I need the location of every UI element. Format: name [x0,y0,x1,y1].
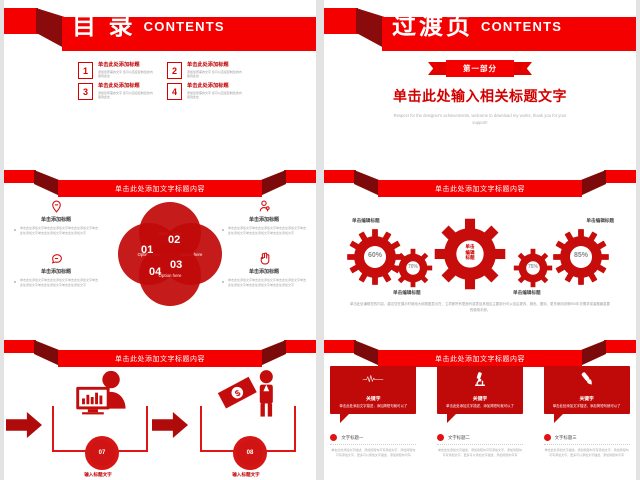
item-title: 单击此处添加标题 [187,62,242,69]
item-desc: 添加您所需的文字 您可以直接复制您的内容到此处 [98,91,153,100]
slide-process[interactable]: 单击此处添加文字标题内容 [0,330,320,480]
callout-bubble: 关键字 单击此处添加文字描述，添加简短句就可以了 [544,366,630,414]
item-desc: 添加您所需的文字 您可以直接复制您的内容到此处 [187,91,242,100]
banner-label: 单击此处添加文字标题内容 [435,354,525,364]
ribbon-fold-left [34,170,60,196]
header-title-cn: 过渡页 [392,15,473,39]
header-text: 过渡页 CONTENTS [392,10,630,43]
ribbon-fold-right [260,170,286,196]
header-text: 目 录 CONTENTS [72,10,310,43]
item-title: 单击此处添加标题 [187,83,242,90]
gear-value-5: 85% [552,252,610,259]
block-desc: 单击此处添加文字单击此处添加文字单击此处添加文字单击此处添加文字单击此处添加文字… [222,226,306,236]
ribbon-wing-left [324,340,356,353]
slide-banner: 单击此处添加文字标题内容 [324,340,636,366]
slide-banner: 单击此处添加文字标题内容 [4,170,316,196]
block-title: 单击添加标题 [14,216,98,223]
banner-left-tab [324,8,358,34]
banner-left-tab [4,8,38,34]
callout-footer: 文字标题二 单击此处添加文字描述，添加简短句可写添加文字，添加简短句可写添加文字… [437,434,523,458]
slide-callouts[interactable]: 单击此处添加文字标题内容 关键字 单击此处添加文字描述，添加简短句就可以了 [320,330,640,480]
list-item[interactable]: 4 单击此处添加标题 添加您所需的文字 您可以直接复制您的内容到此处 [167,83,242,100]
item-number: 3 [78,83,93,100]
section-title: 单击此处输入相关标题文字 [320,86,640,106]
gear-value-4: 75% [513,264,553,270]
ribbon-tail-left [428,62,448,75]
slide-contents[interactable]: 目 录 CONTENTS 1 单击此处添加标题 添加您所需的文字 您可以直接复制… [0,0,320,160]
block-desc: 单击此处添加文字单击此处添加文字单击此处添加文字单击此处添加文字单击此处添加文字… [14,226,98,236]
list-item[interactable]: 2 单击此处添加标题 添加您所需的文字 您可以直接复制您的内容到此处 [167,62,242,79]
gear-label-4: 单击编辑标题 [513,290,541,296]
ribbon-wing-left [324,170,356,183]
petal-diagram: Option here Option here Option here Opti… [118,202,222,306]
info-block[interactable]: 单击添加标题 单击此处添加文字单击此处添加文字单击此处添加文字单击此处添加文字单… [222,252,306,288]
person-money-icon: $ [200,368,292,426]
contents-list: 1 单击此处添加标题 添加您所需的文字 您可以直接复制您的内容到此处 2 单击此… [0,62,320,100]
chat-bubble-icon [14,252,98,265]
ribbon-fold-left [354,340,380,366]
divider [330,444,416,445]
step-title: 输入标题文字 [186,472,306,478]
petal-number-01: 01 [141,244,153,256]
gear-value-2: 70% [393,264,433,270]
callout-body: 单击此处添加文字描述，添加简短句就可以了 [339,404,407,409]
ribbon-wing-right [284,170,316,183]
callout-card[interactable]: 关键字 单击此处添加文字描述，添加简短句就可以了 文字标题二 单击此处添加文字描… [437,366,523,458]
callout-keyword: 关键字 [579,395,593,402]
footer-title: 文字标题三 [555,435,577,441]
ribbon-fold-left [354,170,380,196]
pulse-icon [362,371,384,392]
block-title: 单击添加标题 [222,216,306,223]
slide-deck: 目 录 CONTENTS 1 单击此处添加标题 添加您所需的文字 您可以直接复制… [0,0,640,480]
gear-label-2: 单击编辑标题 [393,290,421,296]
item-title: 单击此处添加标题 [98,83,153,90]
item-desc: 添加您所需的文字 您可以直接复制您的内容到此处 [187,70,242,79]
item-desc: 添加您所需的文字 您可以直接复制您的内容到此处 [98,70,153,79]
slide-banner: 单击此处添加文字标题内容 [4,340,316,366]
block-desc: 单击此处添加文字单击此处添加文字单击此处添加文字单击此处添加文字单击此处添加文字… [14,278,98,288]
info-block[interactable]: 单击添加标题 单击此处添加文字单击此处添加文字单击此处添加文字单击此处添加文字单… [222,200,306,236]
ribbon-fold-right [260,340,286,366]
callout-card[interactable]: 关键字 单击此处添加文字描述，添加简短句就可以了 文字标题三 单击此处添加文字描… [544,366,630,458]
bullet-dot-icon [437,434,444,441]
item-number: 2 [167,62,182,79]
section-ribbon: 第一部分 [446,60,514,77]
gear-footer-text: 单击此处编辑您的内容，建议您在展示时使用大纲视图显示在，立项即所有里面列或表及其… [350,302,610,314]
slide-banner: 单击此处添加文字标题内容 [324,170,636,196]
petal-numbers: 01 02 03 04 [118,202,222,306]
step-label: 输入标题文字 单击此处可以编辑内容文字内容单击此处可以更改内容 [38,472,158,480]
gear-value-3: 单击 编辑 标题 [434,244,506,261]
ribbon-wing-left [4,170,36,183]
callout-keyword: 关键字 [473,395,487,402]
process-diagram: 07 输入标题文字 单击此处可以编辑内容文字内容单击此处可以更改内容 [0,364,320,480]
slide-gears[interactable]: 单击此处添加文字标题内容 单击编辑标题 [320,160,640,330]
ribbon-fold-right [580,170,606,196]
slide-petal-diagram[interactable]: 单击此处添加文字标题内容 Option here Option here Opt… [0,160,320,330]
gear-2[interactable]: 70% [393,248,433,288]
block-title: 单击添加标题 [14,268,98,275]
list-item[interactable]: 1 单击此处添加标题 添加您所需的文字 您可以直接复制您的内容到此处 [78,62,153,79]
gear-diagram: 单击编辑标题 [320,200,640,300]
footer-title: 文字标题二 [448,435,470,441]
microscope-icon [469,371,491,392]
footer-desc: 单击此处添加文字描述，添加简短句可写添加文字，添加简短句可写添加文字，更多可以添… [544,448,630,458]
item-number: 4 [167,83,182,100]
gear-label-1: 单击编辑标题 [352,218,380,224]
step-badge: 07 [85,436,119,470]
step-title: 输入标题文字 [38,472,158,478]
callout-columns: 关键字 单击此处添加文字描述，添加简短句就可以了 文字标题一 单击此处添加文字描… [320,366,640,458]
footer-desc: 单击此处添加文字描述，添加简短句可写添加文字，添加简短句可写添加文字，更多可以添… [437,448,523,458]
header-title-en: CONTENTS [481,19,562,34]
person-chart-icon [52,368,144,426]
section-subtitle: Respect for the designer's achievements,… [320,112,640,126]
footer-desc: 单击此处添加文字描述，添加简短句可写添加文字，添加简短句可写添加文字，更多可以添… [330,448,416,458]
ribbon-wing-right [604,340,636,353]
item-title: 单击此处添加标题 [98,62,153,69]
ribbon-fold-right [580,340,606,366]
arrow-icon [152,412,188,438]
callout-keyword: 关键字 [366,395,380,402]
slide-section-divider[interactable]: 过渡页 CONTENTS 第一部分 单击此处输入相关标题文字 Respect f… [320,0,640,160]
block-title: 单击添加标题 [222,268,306,275]
ribbon-label: 第一部分 [463,63,497,74]
callout-footer: 文字标题三 单击此处添加文字描述，添加简短句可写添加文字，添加简短句可写添加文字… [544,434,630,458]
petal-number-02: 02 [168,234,180,246]
pen-icon [576,371,598,392]
header-title-cn: 目 录 [72,15,136,39]
gear-label-5: 单击编辑标题 [586,218,614,224]
callout-body: 单击此处添加文字描述，添加简短句就可以了 [446,404,514,409]
step-label: 输入标题文字 单击此处可以编辑内容文字内容单击此处可以更改内容 [186,472,306,480]
callout-bubble: 关键字 单击此处添加文字描述，添加简短句就可以了 [437,366,523,414]
location-pin-icon [14,200,98,213]
ribbon-wing-right [284,340,316,353]
block-desc: 单击此处添加文字单击此处添加文字单击此处添加文字单击此处添加文字单击此处添加文字… [222,278,306,288]
ribbon-fold-left [34,340,60,366]
gear-5[interactable]: 85% [552,228,610,286]
bullet-dot-icon [330,434,337,441]
petal-number-03: 03 [170,259,182,271]
callout-footer: 文字标题一 单击此处添加文字描述，添加简短句可写添加文字，添加简短句可写添加文字… [330,434,416,458]
callout-body: 单击此处添加文字描述，添加简短句就可以了 [553,404,621,409]
user-icon [222,200,306,213]
ribbon-wing-left [4,340,36,353]
callout-bubble: 关键字 单击此处添加文字描述，添加简短句就可以了 [330,366,416,414]
banner-fold [36,8,64,48]
callout-card[interactable]: 关键字 单击此处添加文字描述，添加简短句就可以了 文字标题一 单击此处添加文字描… [330,366,416,458]
hand-icon [222,252,306,265]
ribbon-tail-right [512,62,532,75]
ribbon-wing-right [604,170,636,183]
banner-label: 单击此处添加文字标题内容 [435,184,525,194]
step-badge: 08 [233,436,267,470]
footer-title: 文字标题一 [341,435,363,441]
bullet-dot-icon [544,434,551,441]
banner-fold [356,8,384,48]
gear-4[interactable]: 75% [513,248,553,288]
list-item[interactable]: 3 单击此处添加标题 添加您所需的文字 您可以直接复制您的内容到此处 [78,83,153,100]
item-number: 1 [78,62,93,79]
info-block[interactable]: 单击添加标题 单击此处添加文字单击此处添加文字单击此处添加文字单击此处添加文字单… [14,200,98,236]
divider [544,444,630,445]
arrow-icon [6,412,42,438]
header-title-en: CONTENTS [144,19,225,34]
petal-number-04: 04 [149,266,161,278]
section-body: 第一部分 单击此处输入相关标题文字 Respect for the design… [320,58,640,126]
divider [437,444,523,445]
banner-label: 单击此处添加文字标题内容 [115,354,205,364]
info-block[interactable]: 单击添加标题 单击此处添加文字单击此处添加文字单击此处添加文字单击此处添加文字单… [14,252,98,288]
gear-3-center[interactable]: 单击 编辑 标题 [434,218,506,290]
banner-label: 单击此处添加文字标题内容 [115,184,205,194]
